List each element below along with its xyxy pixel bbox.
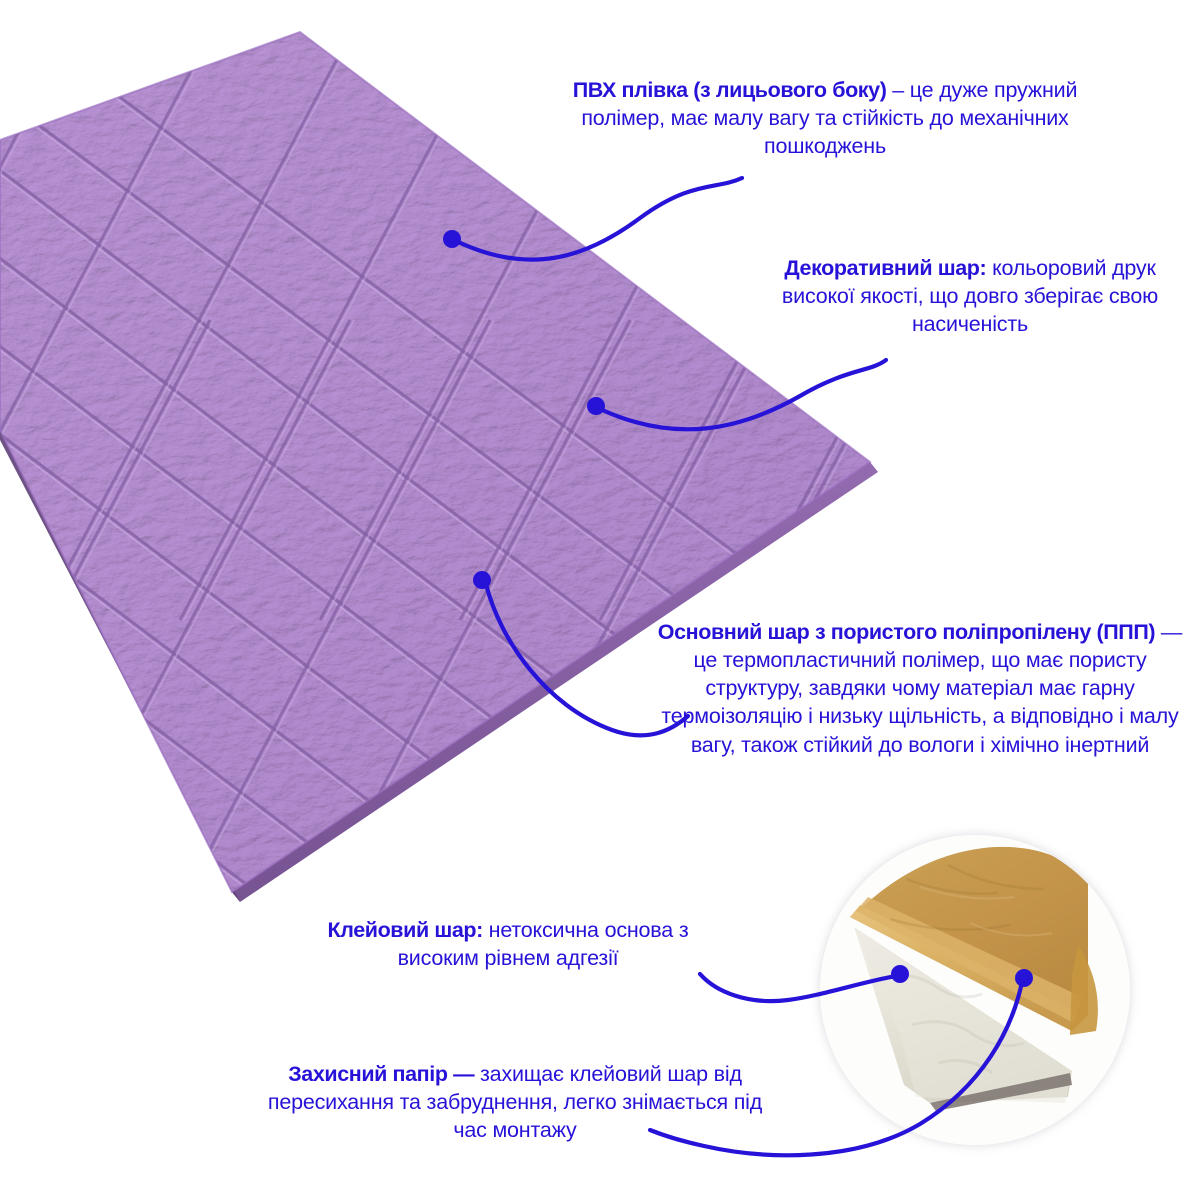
callout-protective-paper-bold: Захисний папір — xyxy=(288,1062,474,1086)
callout-pvc-film: ПВХ плівка (з лицьового боку) – це дуже … xyxy=(560,76,1090,160)
callout-ppp-core: Основний шар з пористого поліпропілену (… xyxy=(650,618,1190,759)
callout-glue-layer: Клейовий шар: нетоксична основа з високи… xyxy=(298,916,718,972)
callout-ppp-core-bold: Основний шар з пористого поліпропілену (… xyxy=(658,620,1155,644)
callout-decorative-layer-bold: Декоративний шар: xyxy=(784,256,986,280)
callout-glue-layer-bold: Клейовий шар: xyxy=(328,918,483,942)
poster-canvas: ПВХ плівка (з лицьового боку) – це дуже … xyxy=(0,0,1200,1200)
detail-circle-inset xyxy=(820,835,1130,1145)
callout-protective-paper: Захисний папір — захищає клейовий шар ві… xyxy=(250,1060,780,1144)
callout-decorative-layer: Декоративний шар: кольоровий друк високо… xyxy=(770,254,1170,338)
peeled-corner-photo xyxy=(820,835,1130,1145)
callout-pvc-film-bold: ПВХ плівка (з лицьового боку) xyxy=(573,78,887,102)
